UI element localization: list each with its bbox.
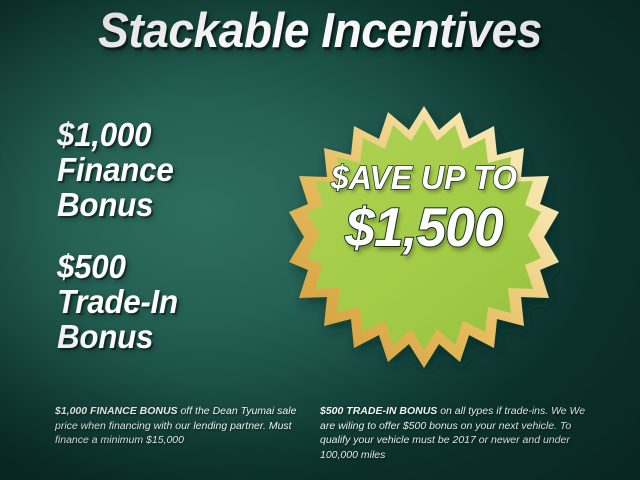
offer-finance-amount: $1,000: [57, 117, 173, 152]
savings-starburst-badge: $AVE UP TO $1,500: [288, 104, 560, 374]
fineprint-trade-in: $500 TRADE-IN BONUS on all types if trad…: [320, 404, 590, 462]
starburst-shape: [288, 104, 560, 374]
offer-finance: $1,000 Finance Bonus: [57, 117, 173, 222]
page-title: Stackable Incentives: [19, 3, 621, 59]
offer-trade-in-amount: $500: [57, 249, 178, 284]
fineprint-finance: $1,000 FINANCE BONUS off the Dean Tyumai…: [55, 404, 311, 448]
offer-trade-in-label-1: Trade-In: [57, 284, 178, 319]
fineprint-trade-in-lead: $500 TRADE-IN BONUS: [320, 405, 437, 417]
offer-finance-label-1: Finance: [57, 152, 173, 187]
offer-trade-in: $500 Trade-In Bonus: [57, 249, 178, 354]
offer-finance-label-2: Bonus: [57, 187, 173, 222]
promo-poster: Stackable Incentives $1,000 Finance Bonu…: [0, 0, 640, 480]
offer-trade-in-label-2: Bonus: [57, 319, 178, 354]
fineprint-finance-lead: $1,000 FINANCE BONUS: [55, 405, 178, 417]
